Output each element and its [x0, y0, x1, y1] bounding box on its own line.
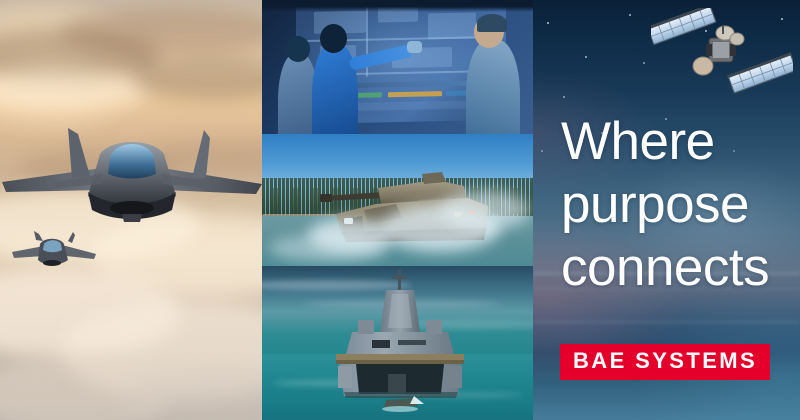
- person-figure: [466, 40, 520, 134]
- cloud-shape: [0, 70, 150, 110]
- fighter-jet-background-icon: [10, 228, 100, 276]
- naval-ship-panel: [262, 266, 533, 420]
- cloud-shape: [130, 56, 262, 100]
- person-hair: [477, 14, 507, 32]
- person-hand: [407, 41, 422, 53]
- naval-ship-icon: [322, 270, 478, 412]
- headline: Where purpose connects: [561, 110, 796, 299]
- bae-systems-logo-text: BAE SYSTEMS: [573, 348, 757, 373]
- person-head: [320, 24, 347, 53]
- combat-vehicle-panel: [262, 134, 533, 266]
- bae-systems-logo[interactable]: BAE SYSTEMS: [560, 344, 770, 380]
- fighter-jets-panel: [0, 0, 262, 420]
- bae-systems-brand-banner: Where purpose connects BAE SYSTEMS: [0, 0, 800, 420]
- satellite-brand-panel: Where purpose connects BAE SYSTEMS: [533, 0, 800, 420]
- tile-top-shadow: [262, 0, 533, 12]
- person-head: [286, 36, 310, 62]
- headline-line-2: purpose: [561, 173, 796, 236]
- landing-craft-icon: [380, 392, 424, 412]
- water-spray: [440, 190, 530, 230]
- headline-line-1: Where: [561, 110, 796, 173]
- operations-team-panel: [262, 0, 533, 134]
- fighter-jet-foreground-icon: [0, 116, 262, 244]
- center-image-stack: [262, 0, 533, 420]
- headline-line-3: connects: [561, 236, 796, 299]
- water-spray: [268, 234, 388, 262]
- satellite-icon: [651, 8, 793, 94]
